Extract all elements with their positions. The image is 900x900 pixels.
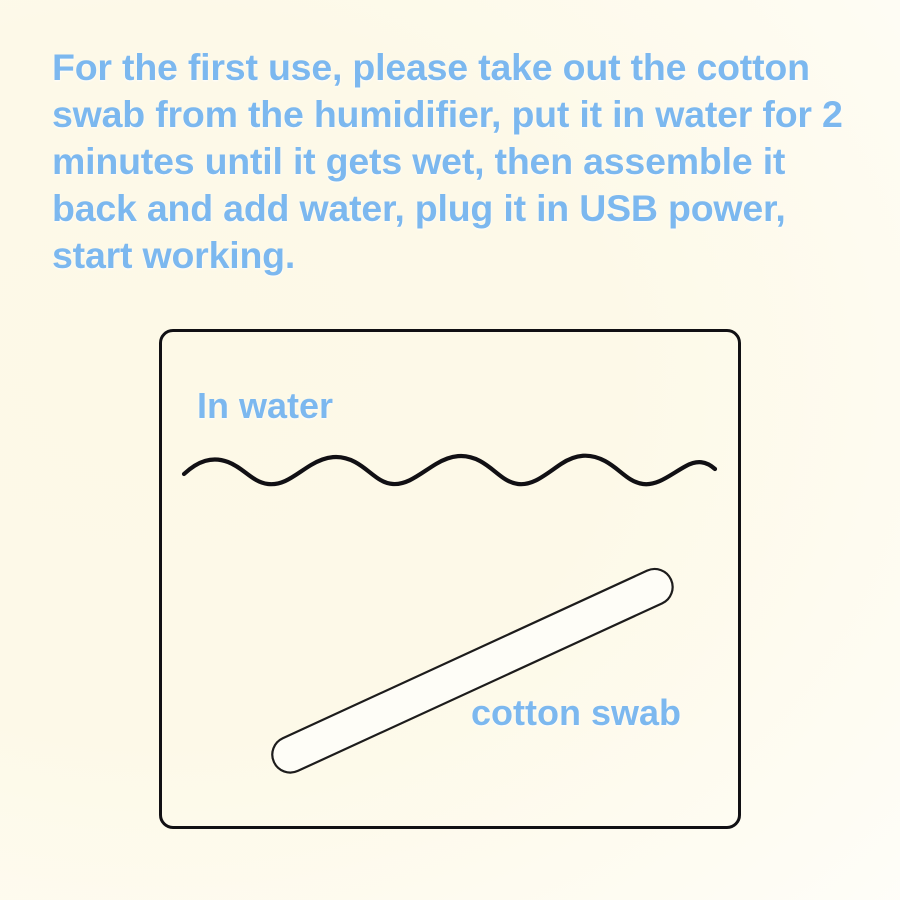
instruction-card: For the first use, please take out the c… (0, 0, 900, 900)
label-in-water: In water (197, 385, 333, 427)
instruction-headline: For the first use, please take out the c… (52, 44, 864, 279)
label-cotton-swab: cotton swab (471, 692, 681, 734)
